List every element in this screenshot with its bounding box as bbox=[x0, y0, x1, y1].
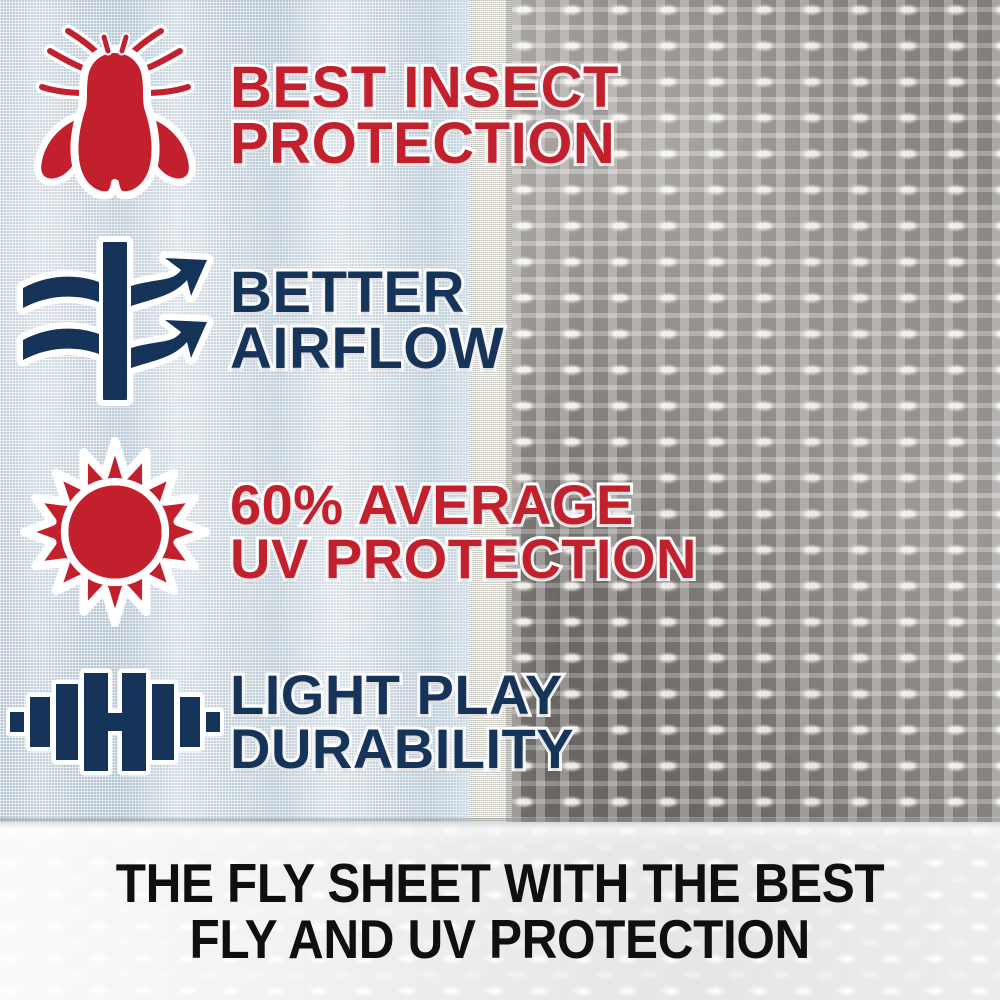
feature-text-insect: BEST INSECT PROTECTION bbox=[230, 60, 619, 171]
feature-line: 60% AVERAGE bbox=[230, 478, 697, 532]
infographic-stage: BEST INSECT PROTECTION bbox=[0, 0, 1000, 1000]
feature-text-durability: LIGHT PLAY DURABILITY bbox=[230, 668, 574, 776]
airflow-icon bbox=[0, 236, 230, 406]
feature-row-insect: BEST INSECT PROTECTION bbox=[0, 18, 1000, 214]
feature-text-airflow: BETTER AIRFLOW bbox=[230, 265, 504, 376]
feature-line: BETTER bbox=[230, 265, 504, 321]
feature-list: BEST INSECT PROTECTION bbox=[0, 0, 1000, 822]
feature-row-airflow: BETTER AIRFLOW bbox=[0, 236, 1000, 406]
feature-row-uv: 60% AVERAGE UV PROTECTION bbox=[0, 432, 1000, 632]
caption-line-1: THE FLY SHEET WITH THE BEST bbox=[116, 855, 885, 911]
feature-line: UV PROTECTION bbox=[230, 532, 697, 586]
feature-line: AIRFLOW bbox=[230, 321, 504, 377]
feature-line: DURABILITY bbox=[230, 722, 574, 776]
feature-line: LIGHT PLAY bbox=[230, 668, 574, 722]
dumbbell-icon bbox=[0, 667, 230, 777]
feature-line: PROTECTION bbox=[230, 116, 619, 172]
feature-line: BEST INSECT bbox=[230, 60, 619, 116]
bottom-caption: THE FLY SHEET WITH THE BEST FLY AND UV P… bbox=[0, 822, 1000, 1000]
feature-text-uv: 60% AVERAGE UV PROTECTION bbox=[230, 478, 697, 586]
sun-icon bbox=[0, 437, 230, 627]
fly-icon bbox=[0, 21, 230, 211]
caption-line-2: FLY AND UV PROTECTION bbox=[190, 911, 810, 967]
feature-row-durability: LIGHT PLAY DURABILITY bbox=[0, 652, 1000, 792]
